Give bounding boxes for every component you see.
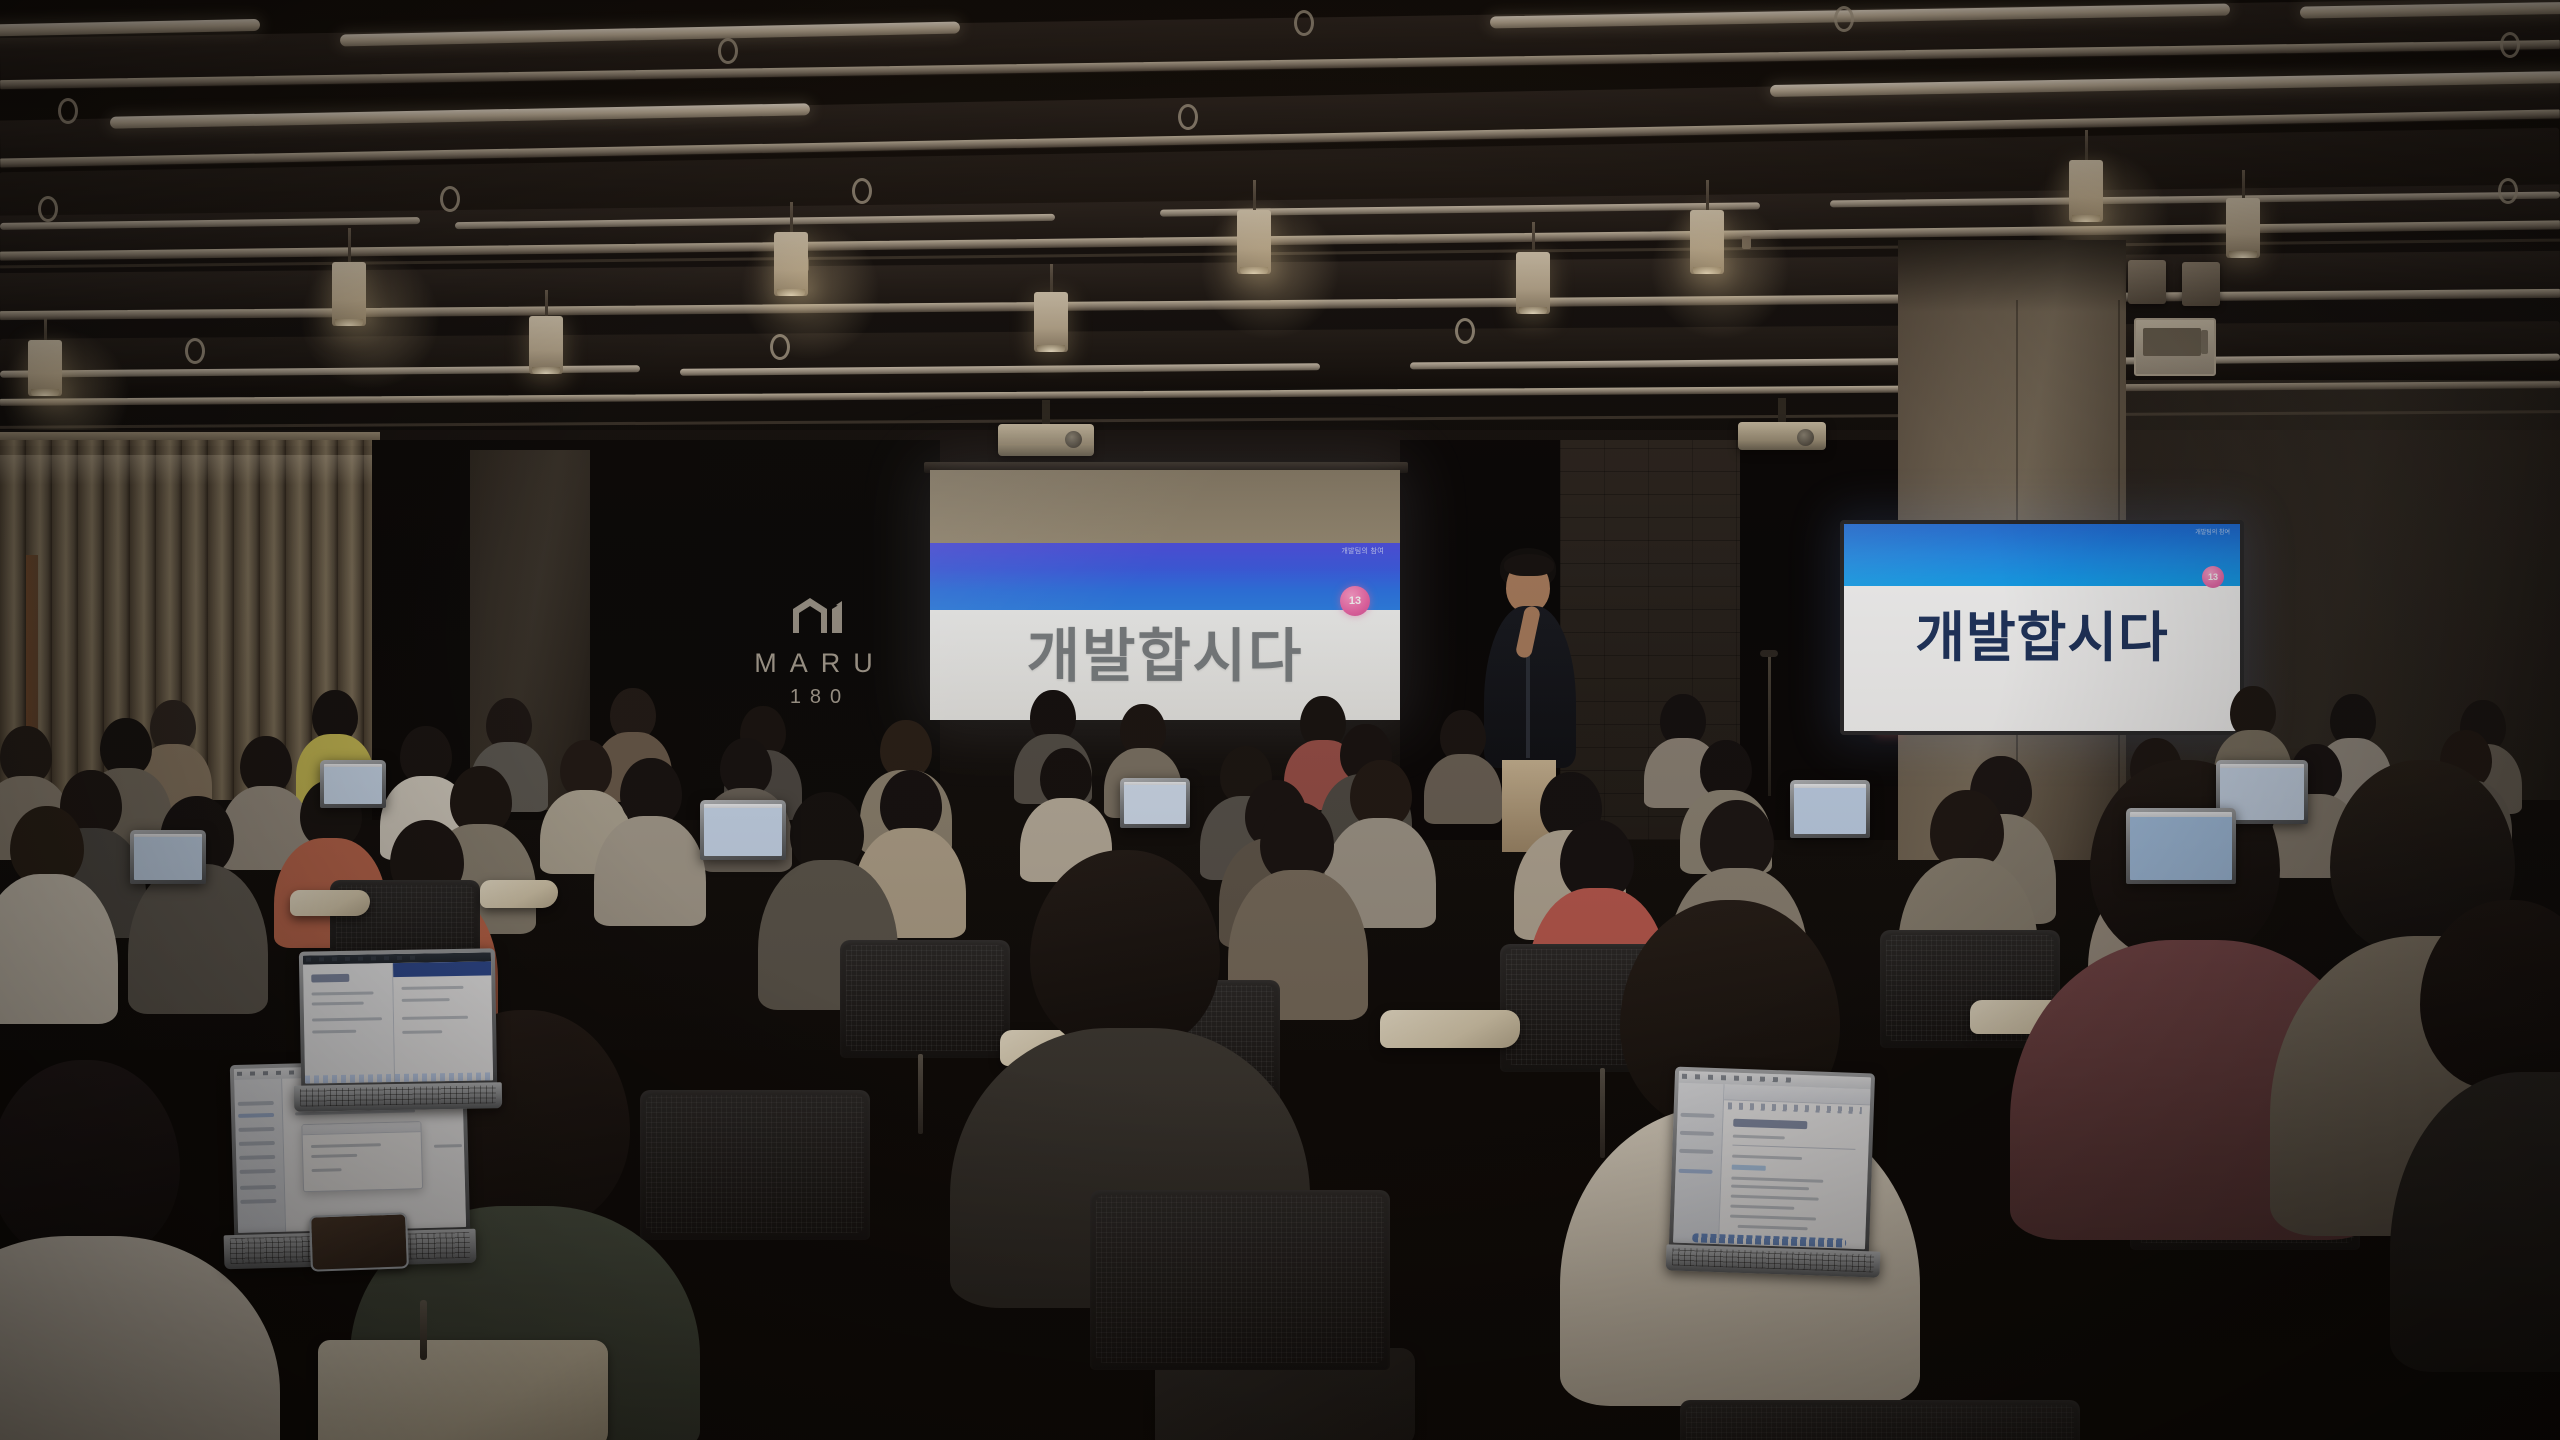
auditorium-chair[interactable] [1090,1190,1390,1370]
sidebar-row-selected[interactable] [1679,1169,1713,1174]
laptop-lid [1790,780,1870,838]
content-line [1733,1135,1785,1140]
smartphone[interactable] [309,1212,409,1271]
pendant-light [1034,292,1068,352]
cable-coil [718,38,738,64]
pendant-rod [44,318,47,342]
content-line [311,1169,341,1173]
cable-coil [2498,178,2518,204]
laptop-screen[interactable] [704,804,782,856]
content-pane [1719,1084,1870,1249]
cable-coil [1834,6,1854,32]
cable-coil [852,178,872,204]
sidebar-row[interactable] [241,1199,277,1204]
highlighted-text [1732,1165,1766,1171]
tablet-arm-desk [318,1340,608,1440]
blinds-light-sheen [0,455,372,485]
av-control-panel[interactable] [2134,318,2216,376]
keyboard[interactable] [1672,1247,1875,1272]
cable-coil [1178,104,1198,130]
tablet-arm-desk [480,880,558,908]
cable-coil [1294,10,1314,36]
content-line [1731,1185,1809,1191]
keyboard[interactable] [300,1085,496,1106]
maru-logo-wordmark: MARU [700,648,940,679]
projector-mount [1042,400,1050,426]
maru-logo-subtext: 180 [700,686,940,709]
projection-screen: 개발팀의 참여 13 개발합시다 [930,470,1400,720]
microphone-head [1760,650,1778,657]
sidebar-row[interactable] [239,1155,275,1160]
desk-support-arm [420,1300,427,1360]
laptop-screen[interactable] [134,834,202,880]
sidebar-row[interactable] [238,1101,274,1106]
pendant-rod [545,290,548,316]
content-line [312,1002,364,1006]
cable-coil [38,196,58,222]
laptop-screen[interactable] [303,952,493,1083]
pane-heading [311,974,349,983]
pendant-rod [790,202,793,232]
cable-coil [440,186,460,212]
laptop-screen[interactable] [324,764,382,804]
sidebar[interactable] [1673,1083,1725,1244]
projector-lens [1797,429,1814,446]
screen-gloss [930,470,1400,720]
menu-bar [2130,812,2232,817]
menu-bar [2220,764,2304,768]
laptop-lid [320,760,386,808]
pendant-rod [1050,264,1053,292]
content-line [402,998,450,1002]
sidebar-row[interactable] [239,1127,275,1132]
tv-screen-surface: 개발팀의 참여 13 개발합시다 [1844,524,2240,731]
maru-logo-mark [790,595,852,635]
menu-bar [324,764,382,767]
window-titlebar[interactable] [302,1123,420,1136]
chair-leg [1600,1068,1605,1158]
chair-mesh-panel [846,945,1004,1051]
content-line [312,1017,382,1021]
pendant-light [1516,252,1550,314]
auditorium-chair[interactable] [640,1090,870,1240]
laptop-screen[interactable] [1673,1071,1871,1250]
cable-coil [770,334,790,360]
sidebar-row[interactable] [240,1185,276,1190]
auditorium-chair[interactable] [840,940,1010,1058]
menu-bar [704,804,782,808]
pendant-light [774,232,808,296]
panel-display [2143,328,2201,356]
ceiling-speaker [2128,260,2166,304]
chair-mesh-panel [1686,1405,2074,1440]
menu-bar [1794,784,1866,788]
auditorium-chair[interactable] [1680,1400,2080,1440]
pendant-light [529,316,563,374]
content-line [1732,1155,1802,1160]
cable-coil [58,98,78,124]
menu-items [1682,1074,1797,1083]
content-line [312,1030,356,1034]
tv-gloss [1844,524,2240,731]
laptop-lid [299,948,497,1087]
pendant-rod [1253,180,1256,210]
presenter-fringe [1504,554,1554,576]
ceiling-speaker [2182,262,2220,306]
projector-mount [1778,398,1786,424]
sidebar-row[interactable] [239,1141,275,1146]
conference-hall-photo: MARU 180 개발팀의 참여 13 개발합시다 [0,0,2560,1440]
pendant-rod [1532,222,1535,252]
laptop-screen[interactable] [1124,782,1186,824]
content-line [1738,1225,1808,1230]
ceiling-projector [1738,422,1826,450]
projection-screen-surface: 개발팀의 참여 13 개발합시다 [930,470,1400,720]
content-line [1731,1195,1819,1201]
wall-tv-monitor: 개발팀의 참여 13 개발합시다 [1840,520,2244,735]
laptop-screen[interactable] [2130,812,2232,880]
chair-mesh-panel [1096,1195,1384,1363]
laptop-lid [130,830,206,884]
cable-coil [1455,318,1475,344]
menu-items [306,956,419,961]
pendant-light [2226,198,2260,258]
chair-mesh-panel [646,1095,864,1233]
content-line [312,991,374,995]
microphone-stand [1768,656,1771,796]
content-line [1730,1205,1794,1210]
pendant-light [2069,160,2103,222]
head [1030,850,1220,1050]
laptop-lid [1120,778,1190,828]
pendant-light [28,340,62,396]
pendant-rod [1706,180,1709,210]
sidebar-row[interactable] [1681,1113,1715,1118]
sidebar-row[interactable] [1680,1131,1714,1136]
sidebar-row-selected[interactable] [238,1113,274,1118]
content-line [402,1016,468,1020]
content-line [311,1154,357,1158]
laptop-lid [1669,1067,1875,1254]
right-pane[interactable] [393,961,493,1082]
cable-coil [2500,32,2520,58]
content-line [434,1145,462,1149]
divider [1733,1145,1856,1150]
laptop-screen[interactable] [1794,784,1866,834]
laptop-lid [2126,808,2236,884]
tablet-arm-desk [290,890,370,916]
left-pane[interactable] [303,963,395,1084]
laptop-base[interactable] [294,1082,502,1112]
content-line [1730,1215,1816,1221]
content-line [402,986,464,990]
content-line [1731,1177,1823,1183]
column-shadow [1898,240,2126,420]
pane-header-bar [393,961,491,977]
pendant-light [332,262,366,326]
content-line [311,1144,381,1149]
tablet-arm-desk [1380,1010,1520,1048]
pendant-rod [2242,170,2245,198]
sprinkler-head [1742,236,1751,249]
pendant-light [1237,210,1271,274]
sidebar-row[interactable] [240,1169,276,1174]
laptop-lid [700,800,786,860]
pendant-light [1690,210,1724,274]
menu-bar [1124,782,1186,785]
floating-window[interactable] [301,1122,423,1193]
doc-title [1733,1119,1807,1130]
pendant-rod [2085,130,2088,160]
content-line [402,1030,442,1034]
cable-coil [185,338,205,364]
sidebar-row[interactable] [1679,1149,1713,1154]
ceiling-projector [998,424,1094,456]
chair-leg [918,1054,923,1134]
pendant-rod [348,228,351,262]
sidebar[interactable] [234,1079,286,1233]
projector-lens [1065,431,1082,448]
menu-bar [134,834,202,837]
panel-knob[interactable] [2201,330,2208,354]
head [0,1060,180,1260]
